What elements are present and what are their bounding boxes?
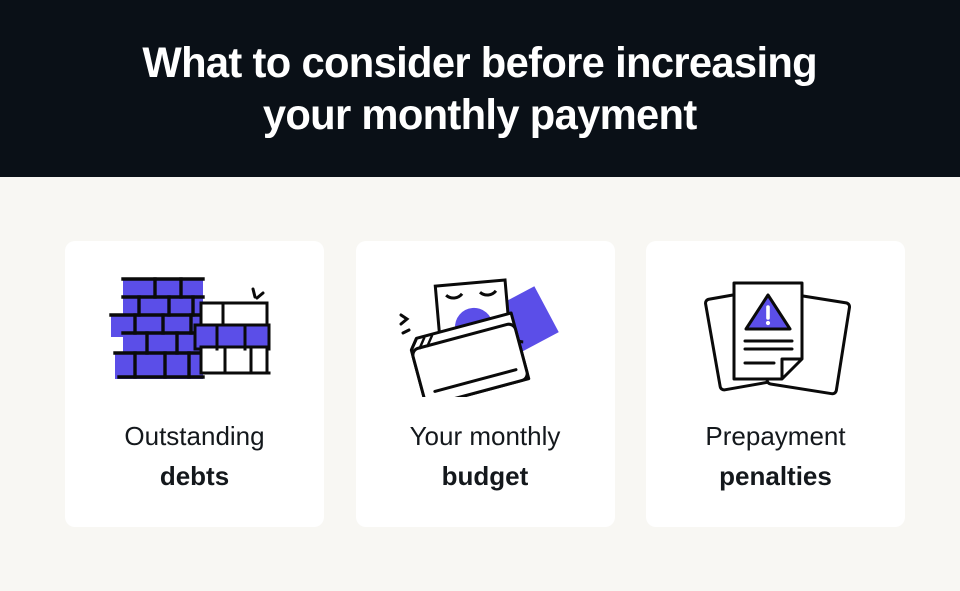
card-illustration [356,241,615,416]
card-illustration [65,241,324,416]
brick-wall-icon [105,267,285,397]
cards-row: Outstanding debts [65,241,905,527]
card-caption-line2: penalties [705,456,845,496]
card-caption-line1: Your monthly [410,416,561,456]
card-caption-line1: Prepayment [705,416,845,456]
card-prepayment-penalties[interactable]: Prepayment penalties [646,241,905,527]
card-caption: Outstanding debts [124,416,264,496]
card-caption-line2: debts [124,456,264,496]
documents-with-warning-icon [686,267,866,397]
page-title: What to consider before increasing your … [143,37,818,141]
card-caption-line1: Outstanding [124,416,264,456]
card-outstanding-debts[interactable]: Outstanding debts [65,241,324,527]
card-illustration [646,241,905,416]
header-banner: What to consider before increasing your … [0,0,960,177]
card-monthly-budget[interactable]: Your monthly budget [356,241,615,527]
card-caption: Prepayment penalties [705,416,845,496]
infographic-page: What to consider before increasing your … [0,0,960,591]
card-caption: Your monthly budget [410,416,561,496]
card-caption-line2: budget [410,456,561,496]
wallet-with-banknotes-icon [395,267,575,397]
